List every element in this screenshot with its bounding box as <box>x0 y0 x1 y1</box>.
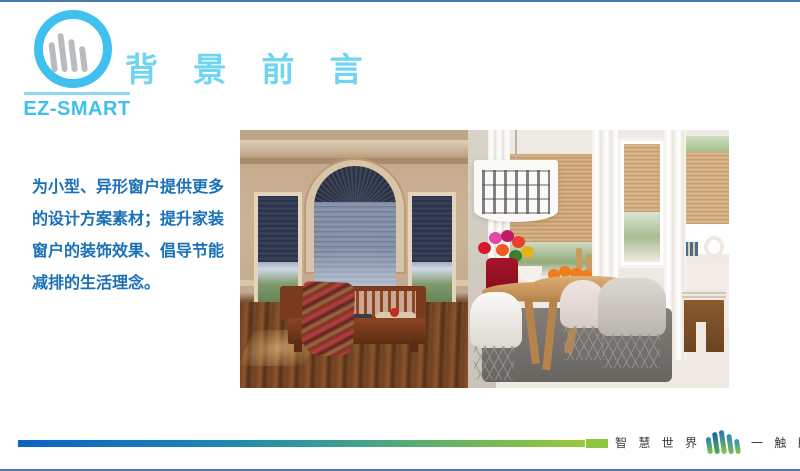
footer-tagline: 智 慧 世 界 一 触 即 达 <box>586 430 800 456</box>
brand-logo: EZ-SMART <box>18 8 136 120</box>
footer-gradient-bar <box>18 440 585 447</box>
logo-underline <box>24 92 130 95</box>
footer-text-left: 智 慧 世 界 <box>615 435 701 451</box>
page-title: 背 景 前 言 <box>125 50 376 90</box>
logo-shade-bars-icon <box>50 28 96 72</box>
logo-notch <box>118 14 132 26</box>
footer-text-right: 一 触 即 达 <box>751 435 800 451</box>
photo-arched-window-blinds-room <box>240 130 468 388</box>
body-paragraph: 为小型、异形窗户提供更多的设计方案素材；提升家装窗户的装饰效果、倡导节能减排的生… <box>32 172 232 300</box>
slide-canvas: EZ-SMART 背 景 前 言 为小型、异形窗户提供更多的设计方案素材；提升家… <box>0 0 800 471</box>
footer-dash-left-icon <box>586 439 608 448</box>
footer-bars-icon <box>707 430 745 456</box>
photo-collage <box>240 130 729 388</box>
photo-dining-room-pleated-blinds <box>468 130 729 388</box>
brand-name: EZ-SMART <box>18 96 136 122</box>
